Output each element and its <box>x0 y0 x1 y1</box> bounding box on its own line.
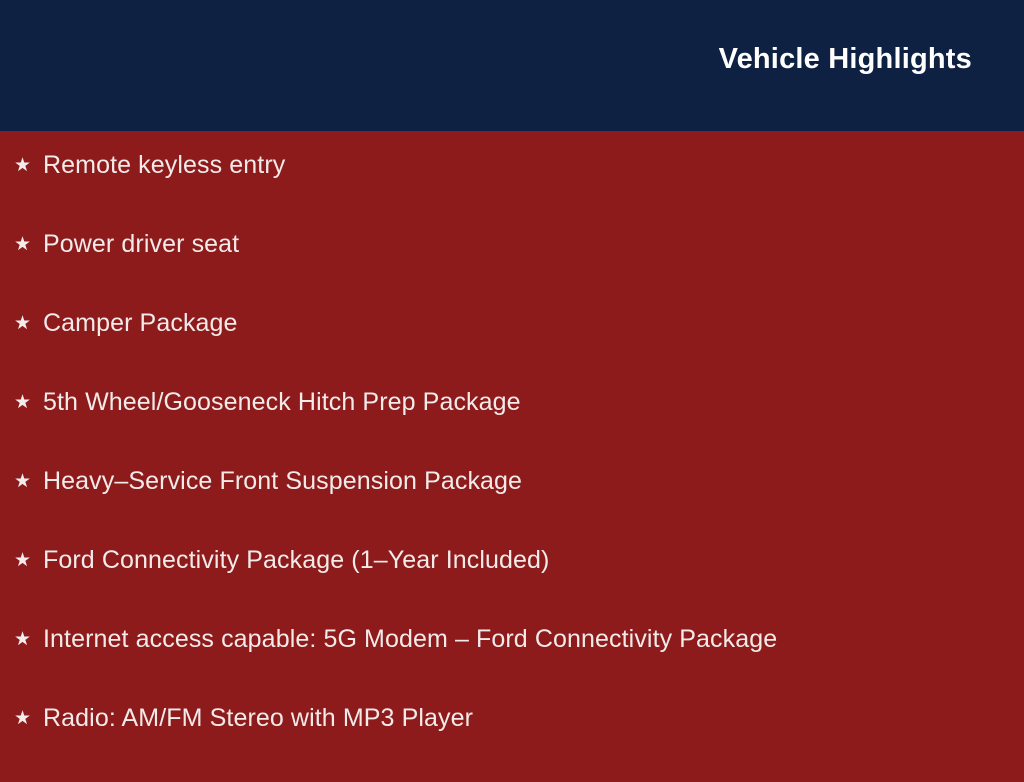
list-item: ★ Radio: AM/FM Stereo with MP3 Player <box>0 703 1024 782</box>
highlight-label: Remote keyless entry <box>43 150 1024 180</box>
star-bullet-icon: ★ <box>14 230 43 260</box>
slide-body: ★ Remote keyless entry ★ Power driver se… <box>0 131 1024 768</box>
slide-header-bar: Vehicle Highlights <box>0 0 1024 131</box>
star-bullet-icon: ★ <box>14 388 43 418</box>
highlight-label: Heavy–Service Front Suspension Package <box>43 466 1024 496</box>
list-item: ★ Camper Package <box>0 308 1024 387</box>
list-item: ★ Remote keyless entry <box>0 150 1024 229</box>
star-bullet-icon: ★ <box>14 467 43 497</box>
star-bullet-icon: ★ <box>14 309 43 339</box>
star-bullet-icon: ★ <box>14 151 43 181</box>
star-bullet-icon: ★ <box>14 546 43 576</box>
list-item: ★ Power driver seat <box>0 229 1024 308</box>
highlight-label: Radio: AM/FM Stereo with MP3 Player <box>43 703 1024 733</box>
star-bullet-icon: ★ <box>14 704 43 734</box>
list-item: ★ Heavy–Service Front Suspension Package <box>0 466 1024 545</box>
highlight-label: 5th Wheel/Gooseneck Hitch Prep Package <box>43 387 1024 417</box>
highlight-label: Internet access capable: 5G Modem – Ford… <box>43 624 1024 654</box>
vehicle-highlights-list: ★ Remote keyless entry ★ Power driver se… <box>0 150 1024 782</box>
list-item: ★ Ford Connectivity Package (1–Year Incl… <box>0 545 1024 624</box>
star-bullet-icon: ★ <box>14 625 43 655</box>
list-item: ★ 5th Wheel/Gooseneck Hitch Prep Package <box>0 387 1024 466</box>
vehicle-highlights-slide: Vehicle Highlights ★ Remote keyless entr… <box>0 0 1024 768</box>
highlight-label: Camper Package <box>43 308 1024 338</box>
list-item: ★ Internet access capable: 5G Modem – Fo… <box>0 624 1024 703</box>
highlight-label: Power driver seat <box>43 229 1024 259</box>
highlight-label: Ford Connectivity Package (1–Year Includ… <box>43 545 1024 575</box>
page-title: Vehicle Highlights <box>719 44 972 76</box>
